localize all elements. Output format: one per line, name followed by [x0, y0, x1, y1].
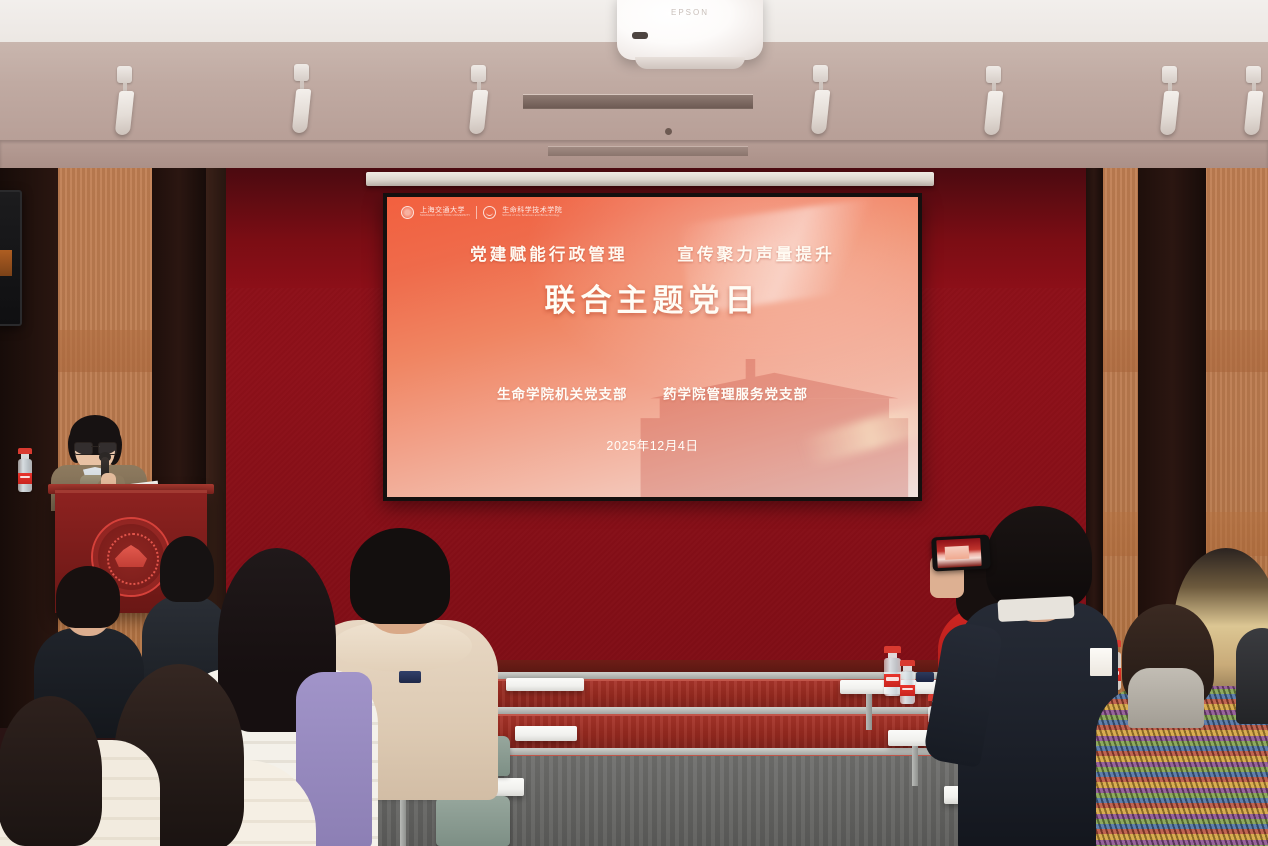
desk-object-card [399, 671, 421, 683]
slide-org-left: 生命学院机关党支部 [497, 387, 628, 402]
water-bottle-1 [884, 646, 901, 696]
track-light-head-icon [471, 65, 486, 82]
track-light-head-icon [1246, 66, 1261, 83]
water-bottle-6 [900, 660, 915, 704]
track-light-head-icon [294, 64, 309, 81]
slide-logo-university-en: SHANGHAI JIAO TONG UNIVERSITY [420, 214, 470, 217]
desk-object-badge [916, 672, 934, 682]
slide-organizations: 生命学院机关党支部 药学院管理服务党支部 [387, 383, 918, 403]
slide-logo-lockup: 上海交通大学 SHANGHAI JIAO TONG UNIVERSITY 生命科… [401, 206, 562, 219]
track-light-body [292, 89, 312, 133]
track-light-body [984, 91, 1004, 135]
track-light-body [1244, 91, 1264, 135]
track-light-head-icon [1162, 66, 1177, 83]
attendee-right-edge [1236, 598, 1268, 718]
water-bottle-podium [18, 448, 32, 492]
wall-monitor [0, 190, 22, 326]
track-light-neck [992, 83, 996, 91]
track-light-neck [123, 83, 127, 91]
track-light-2 [293, 64, 311, 133]
track-light-5 [985, 66, 1003, 135]
bottle-body [900, 671, 915, 704]
track-light-neck [300, 81, 304, 89]
ceiling-projector: EPSON [617, 0, 763, 60]
slide-main-title: 联合主题党日 [387, 275, 918, 320]
attendee-torso [1236, 628, 1268, 724]
attendee-front-left-cream-coat [0, 700, 160, 846]
slide-subtitle-right: 宣传聚力声量提升 [677, 246, 835, 264]
projector-brand-label: EPSON [617, 8, 763, 17]
smartphone-camera[interactable] [931, 535, 991, 572]
slide-logo-divider [476, 206, 477, 219]
desk-leg [912, 746, 918, 786]
glasses-lens-left [74, 442, 93, 455]
slide-logo-school-cn: 生命科学技术学院 [502, 207, 562, 214]
bottle-label [18, 473, 32, 484]
ceiling-air-vent [523, 94, 753, 109]
bottle-body [18, 459, 32, 492]
attendee-grey-sleeve [1128, 648, 1204, 718]
slide-date: 2025年12月4日 [387, 435, 918, 454]
slide-subtitle: 党建赋能行政管理 宣传聚力声量提升 [387, 241, 918, 265]
attendee-hair [56, 566, 120, 628]
shirt-collar [997, 596, 1074, 622]
projection-screen-housing [366, 172, 934, 186]
track-light-head-icon [117, 66, 132, 83]
bottle-cap-icon [884, 646, 901, 653]
track-light-4 [812, 65, 830, 134]
life-science-mark-icon [483, 206, 496, 219]
bottle-neck [21, 454, 29, 458]
glasses-icon [74, 442, 117, 453]
projector-lens-icon [632, 32, 648, 39]
slide-logo-university-cn: 上海交通大学 [420, 207, 470, 214]
slide-org-right: 药学院管理服务党支部 [663, 387, 808, 402]
sjtu-seal-icon [401, 206, 414, 219]
desk-leg [400, 796, 406, 846]
slide-logo-school-en: School of Life Sciences and Biotechnolog… [502, 214, 562, 217]
bottle-label [900, 685, 915, 696]
track-light-body [469, 90, 489, 134]
track-light-head-icon [813, 65, 828, 82]
attendee-hair [986, 506, 1092, 610]
track-light-neck [1252, 83, 1256, 91]
track-light-neck [477, 82, 481, 90]
track-light-1 [116, 66, 134, 135]
attendee-torso [1128, 668, 1204, 728]
projection-screen-frame: 上海交通大学 SHANGHAI JIAO TONG UNIVERSITY 生命科… [383, 193, 922, 501]
track-light-body [115, 91, 135, 135]
desk-leg [866, 694, 872, 730]
bottle-body [884, 658, 901, 696]
phone-screen-preview [936, 538, 981, 568]
track-light-neck [1168, 83, 1172, 91]
track-light-6 [1161, 66, 1179, 135]
track-light-body [811, 90, 831, 134]
lecture-hall-photo: EPSON [0, 0, 1268, 846]
track-light-body [1160, 91, 1180, 135]
projection-screen-surface: 上海交通大学 SHANGHAI JIAO TONG UNIVERSITY 生命科… [387, 197, 918, 497]
ceiling-air-vent-secondary [548, 146, 748, 156]
track-light-3 [470, 65, 488, 134]
desk-row-mid-left [515, 726, 577, 741]
bottle-label [884, 674, 901, 687]
attendee-hair [0, 696, 102, 846]
track-light-neck [819, 82, 823, 90]
slide-subtitle-left: 党建赋能行政管理 [470, 246, 628, 264]
bottle-neck [903, 666, 912, 670]
desk-row-back-left [506, 678, 584, 691]
chair-front-center [436, 796, 510, 846]
ceiling-fixture-bolt [665, 128, 672, 135]
desk-nameplate [1090, 648, 1112, 676]
track-light-7 [1245, 66, 1263, 135]
track-light-head-icon [986, 66, 1001, 83]
